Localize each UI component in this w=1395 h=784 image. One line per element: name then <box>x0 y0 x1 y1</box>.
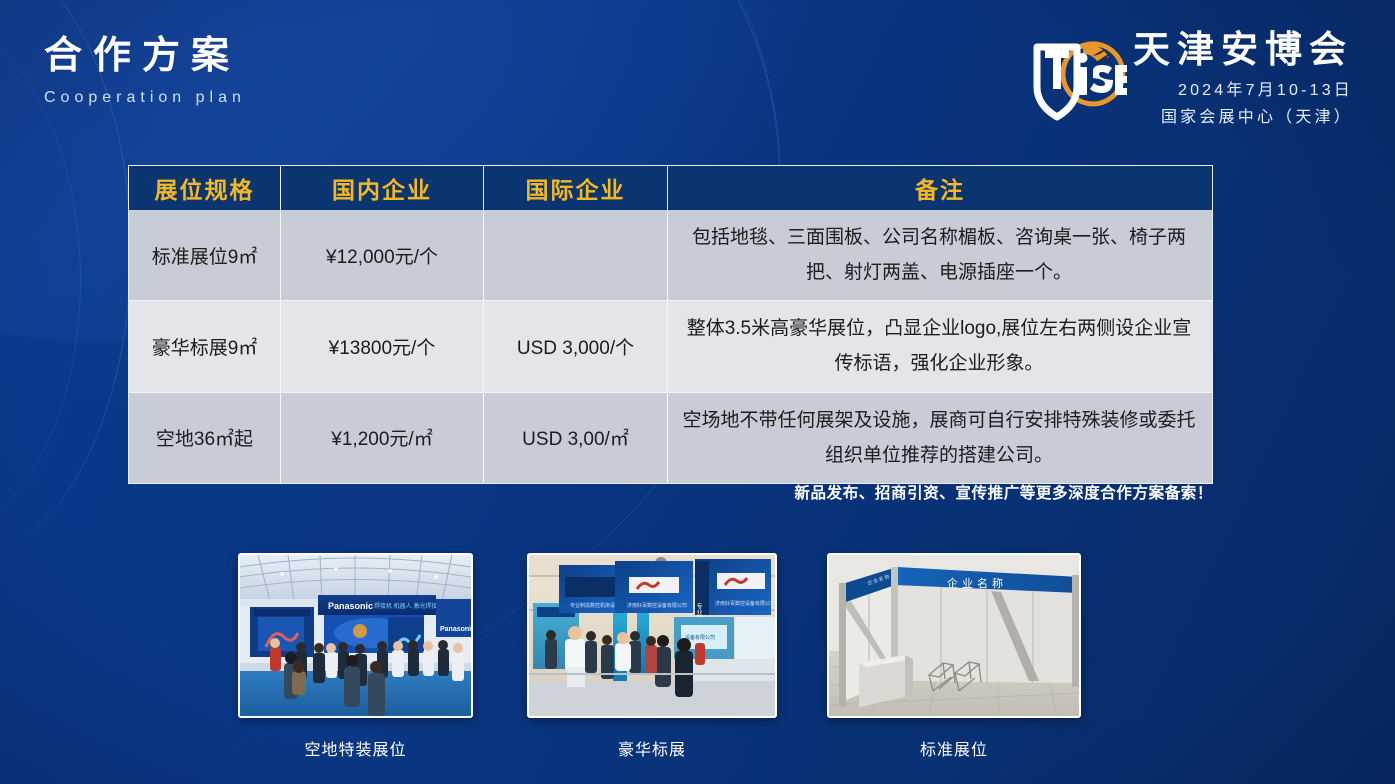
tise-shield-icon <box>1023 27 1127 123</box>
photo-caption: 豪华标展 <box>527 736 777 760</box>
page-title-block: 合作方案 Cooperation plan <box>44 34 246 107</box>
table-row: 标准展位9㎡ ¥12,000元/个 包括地毯、三面围板、公司名称楣板、咨询桌一张… <box>129 210 1213 301</box>
svg-text:焊接机 机器人 激光焊接: 焊接机 机器人 激光焊接 <box>374 602 437 610</box>
cell-domestic-price: ¥12,000元/个 <box>281 210 484 301</box>
table-header-row: 展位规格 国内企业 国际企业 备注 <box>129 166 1213 211</box>
cell-domestic-price: ¥13800元/个 <box>281 301 484 392</box>
svg-text:济南好百数控设备有限公司: 济南好百数控设备有限公司 <box>627 602 687 609</box>
photo-item-open-space: Panasonic 焊接机 机器人 激光焊接 Panasonic <box>238 553 473 760</box>
deluxe-booth-photo: 专业制造数控机床设备 济南好百数控设备有限公司 济南好百数控设备有限公司 专业制… <box>529 555 775 716</box>
cell-spec: 空地36㎡起 <box>129 392 281 483</box>
svg-text:Panasonic: Panasonic <box>328 601 373 611</box>
svg-text:济南好百数控设备有限公司: 济南好百数控设备有限公司 <box>715 600 775 607</box>
svg-text:Panasonic: Panasonic <box>440 626 471 633</box>
column-header-remark: 备注 <box>668 166 1213 211</box>
table-row: 空地36㎡起 ¥1,200元/㎡ USD 3,00/㎡ 空场地不带任何展架及设施… <box>129 392 1213 483</box>
svg-text:设备有限公司: 设备有限公司 <box>685 634 715 641</box>
cell-international-price: USD 3,000/个 <box>484 301 668 392</box>
photo-item-deluxe-booth: 专业制造数控机床设备 济南好百数控设备有限公司 济南好百数控设备有限公司 专业制… <box>527 553 777 760</box>
photo-frame: 专业制造数控机床设备 济南好百数控设备有限公司 济南好百数控设备有限公司 专业制… <box>527 553 777 718</box>
standard-booth-render: 企业名称 企业名称 <box>829 555 1079 716</box>
event-date: 2024年7月10-13日 <box>1178 76 1353 100</box>
photo-frame: 企业名称 企业名称 <box>827 553 1081 718</box>
cell-domestic-price: ¥1,200元/㎡ <box>281 392 484 483</box>
cell-spec: 标准展位9㎡ <box>129 210 281 301</box>
cell-international-price <box>484 210 668 301</box>
column-header-international: 国际企业 <box>484 166 668 211</box>
exhibition-hall-photo: Panasonic 焊接机 机器人 激光焊接 Panasonic <box>240 555 471 716</box>
table-row: 豪华标展9㎡ ¥13800元/个 USD 3,000/个 整体3.5米高豪华展位… <box>129 301 1213 392</box>
cell-international-price: USD 3,00/㎡ <box>484 392 668 483</box>
event-logo-block: 天津安博会 2024年7月10-13日 国家会展中心（天津） <box>1023 27 1353 127</box>
cell-spec: 豪华标展9㎡ <box>129 301 281 392</box>
pricing-table-wrapper: 展位规格 国内企业 国际企业 备注 标准展位9㎡ ¥12,000元/个 包括地毯… <box>128 165 1213 484</box>
page-subtitle: Cooperation plan <box>44 89 246 107</box>
cell-remark: 空场地不带任何展架及设施，展商可自行安排特殊装修或委托组织单位推荐的搭建公司。 <box>668 392 1213 483</box>
photo-caption: 空地特装展位 <box>238 736 473 760</box>
column-header-domestic: 国内企业 <box>281 166 484 211</box>
photo-item-standard-booth: 企业名称 企业名称 <box>827 553 1081 760</box>
photo-caption: 标准展位 <box>827 736 1081 760</box>
photo-frame: Panasonic 焊接机 机器人 激光焊接 Panasonic <box>238 553 473 718</box>
event-name: 天津安博会 <box>1133 31 1353 70</box>
column-header-spec: 展位规格 <box>129 166 281 211</box>
footnote-text: 新品发布、招商引资、宣传推广等更多深度合作方案备索！ <box>794 481 1213 503</box>
event-logo-text: 天津安博会 2024年7月10-13日 国家会展中心（天津） <box>1133 27 1353 127</box>
event-venue: 国家会展中心（天津） <box>1161 103 1353 127</box>
cell-remark: 整体3.5米高豪华展位，凸显企业logo,展位左右两侧设企业宣传标语，强化企业形… <box>668 301 1213 392</box>
cell-remark: 包括地毯、三面围板、公司名称楣板、咨询桌一张、椅子两把、射灯两盖、电源插座一个。 <box>668 210 1213 301</box>
svg-text:专业制造数控机床设备: 专业制造数控机床设备 <box>570 602 620 609</box>
pricing-table: 展位规格 国内企业 国际企业 备注 标准展位9㎡ ¥12,000元/个 包括地毯… <box>128 165 1213 484</box>
page-title: 合作方案 <box>44 34 246 79</box>
slide-root: 合作方案 Cooperation plan <box>0 0 1395 784</box>
